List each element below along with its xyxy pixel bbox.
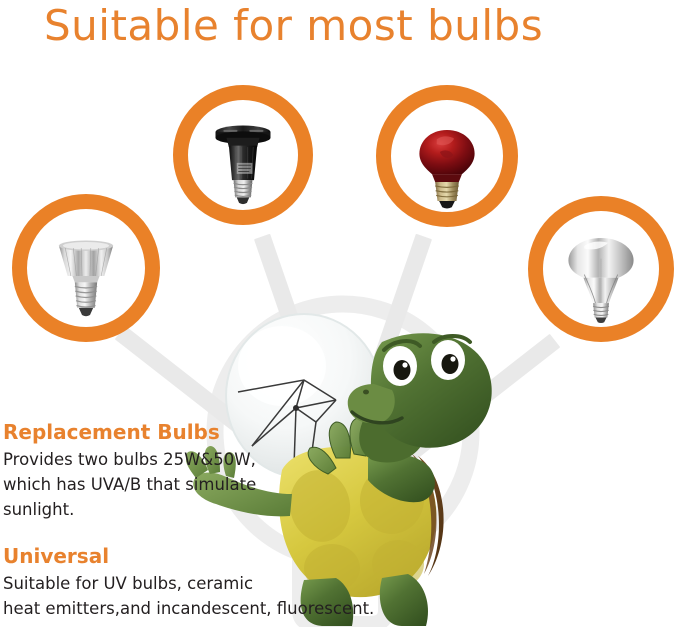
section-replacement-bulbs: Replacement Bulbs Provides two bulbs 25W…	[3, 419, 256, 522]
infographic-root: Suitable for most bulbs	[0, 0, 679, 627]
section-body-replacement-bulbs: Provides two bulbs 25W&50W, which has UV…	[3, 447, 256, 522]
page-title: Suitable for most bulbs	[44, 2, 543, 50]
bulb-node-chrome-flood[interactable]	[528, 196, 674, 342]
ceramic-heat-emitter-icon	[188, 100, 298, 210]
bulb-node-red-infrared[interactable]	[376, 85, 518, 227]
halogen-reflector-bulb-icon	[27, 209, 145, 327]
bulb-node-ceramic-heat-emitter[interactable]	[173, 85, 313, 225]
section-heading-replacement-bulbs: Replacement Bulbs	[3, 419, 256, 445]
chrome-reflector-flood-bulb-icon	[543, 211, 659, 327]
bulb-node-halogen-par[interactable]	[12, 194, 160, 342]
section-universal: Universal Suitable for UV bulbs, ceramic…	[3, 543, 374, 621]
section-heading-universal: Universal	[3, 543, 374, 569]
red-infrared-heat-lamp-icon	[391, 100, 503, 212]
section-body-universal: Suitable for UV bulbs, ceramic heat emit…	[3, 571, 374, 621]
